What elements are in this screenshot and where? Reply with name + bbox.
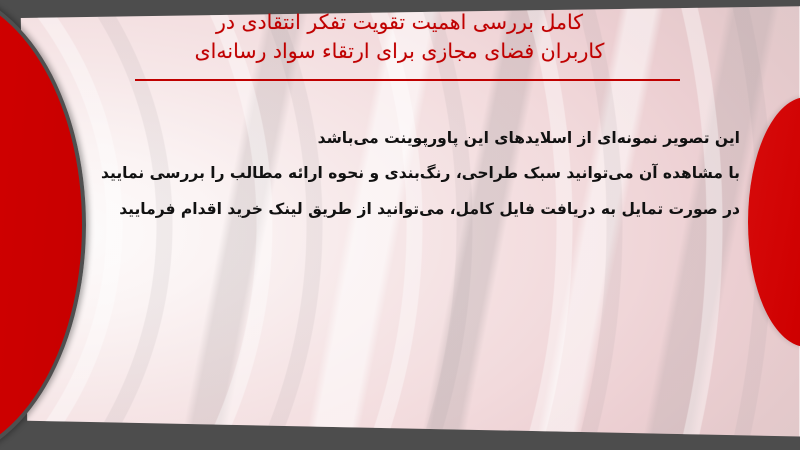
slide-title-underline — [135, 79, 680, 81]
slide-body-line-1: این تصویر نمونه‌ای از اسلایدهای این پاور… — [80, 121, 740, 156]
left-red-ellipse-shape — [0, 0, 86, 450]
presentation-slide: کامل بررسی اهمیت تقویت تفکر انتقادی در ک… — [0, 0, 800, 450]
slide-body-text: این تصویر نمونه‌ای از اسلایدهای این پاور… — [80, 121, 740, 227]
left-red-ellipse-decoration — [0, 0, 86, 450]
slide-body-line-3: در صورت تمایل به دریافت فایل کامل، می‌تو… — [80, 192, 740, 227]
slide-title-line-2: کاربران فضای مجازی برای ارتقاء سواد رسان… — [117, 37, 682, 66]
slide-body-line-2: با مشاهده آن می‌توانید سبک طراحی، رنگ‌بن… — [80, 156, 740, 191]
slide-title-line-1: کامل بررسی اهمیت تقویت تفکر انتقادی در — [117, 8, 682, 37]
slide-title: کامل بررسی اهمیت تقویت تفکر انتقادی در ک… — [117, 8, 682, 67]
